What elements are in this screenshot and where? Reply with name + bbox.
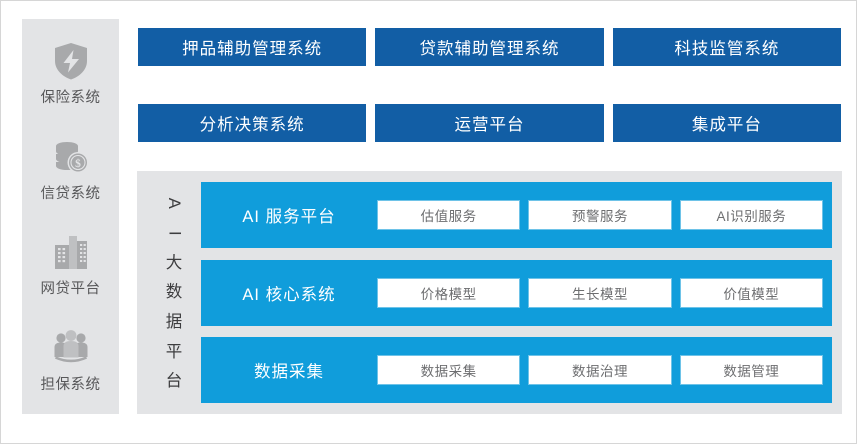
ai-layer-chips: 价格模型 生长模型 价值模型: [377, 278, 823, 308]
system-bar[interactable]: 押品辅助管理系统: [138, 28, 366, 66]
system-bar-row-2: 分析决策系统 运营平台 集成平台: [138, 104, 841, 142]
sidebar: 保险系统 $ 信贷系统: [22, 19, 119, 414]
platform-vertical-label: A I 大 数 据 平 台: [147, 182, 201, 403]
sidebar-item-insurance[interactable]: 保险系统: [22, 39, 119, 107]
ai-chip[interactable]: 价值模型: [680, 278, 823, 308]
coin-stack-dollar-icon: $: [49, 135, 93, 179]
sidebar-item-online-lending[interactable]: 网贷平台: [22, 230, 119, 298]
ai-chip[interactable]: 数据治理: [528, 355, 671, 385]
vertical-label-char: 据: [166, 314, 183, 331]
ai-layer-chips: 估值服务 预警服务 AI识别服务: [377, 200, 823, 230]
system-bars: 押品辅助管理系统 贷款辅助管理系统 科技监管系统 分析决策系统 运营平台 集成平…: [138, 28, 841, 142]
office-buildings-icon: [49, 230, 93, 274]
ai-chip[interactable]: 预警服务: [528, 200, 671, 230]
system-bar[interactable]: 分析决策系统: [138, 104, 366, 142]
people-group-icon: [49, 326, 93, 370]
architecture-diagram: 保险系统 $ 信贷系统: [0, 0, 857, 444]
sidebar-item-label: 信贷系统: [41, 182, 101, 203]
system-bar[interactable]: 集成平台: [613, 104, 841, 142]
ai-layer-title: 数据采集: [201, 358, 377, 382]
system-bar[interactable]: 运营平台: [375, 104, 603, 142]
vertical-label-char: 台: [166, 373, 183, 390]
ai-chip[interactable]: AI识别服务: [680, 200, 823, 230]
ai-layer-row: AI 服务平台 估值服务 预警服务 AI识别服务: [201, 182, 832, 248]
ai-chip[interactable]: 估值服务: [377, 200, 520, 230]
svg-text:$: $: [75, 157, 81, 170]
shield-bolt-icon: [49, 39, 93, 83]
ai-layer-row: AI 核心系统 价格模型 生长模型 价值模型: [201, 260, 832, 326]
system-bar[interactable]: 科技监管系统: [613, 28, 841, 66]
ai-layer-row: 数据采集 数据采集 数据治理 数据管理: [201, 337, 832, 403]
ai-layer-title: AI 服务平台: [201, 203, 377, 227]
sidebar-item-label: 保险系统: [41, 86, 101, 107]
sidebar-item-label: 担保系统: [41, 373, 101, 394]
sidebar-item-credit[interactable]: $ 信贷系统: [22, 135, 119, 203]
ai-chip[interactable]: 价格模型: [377, 278, 520, 308]
ai-chip[interactable]: 数据采集: [377, 355, 520, 385]
ai-chip[interactable]: 生长模型: [528, 278, 671, 308]
vertical-label-char: 平: [166, 344, 183, 361]
system-bar[interactable]: 贷款辅助管理系统: [375, 28, 603, 66]
vertical-label-char: 大: [166, 255, 183, 272]
ai-big-data-platform-panel: A I 大 数 据 平 台 AI 服务平台 估值服务 预警服务 AI识别服务 A…: [137, 171, 842, 414]
sidebar-item-label: 网贷平台: [41, 277, 101, 298]
vertical-label-char: I: [166, 231, 183, 236]
ai-layer-title: AI 核心系统: [201, 281, 377, 305]
ai-chip[interactable]: 数据管理: [680, 355, 823, 385]
vertical-label-char: 数: [166, 284, 183, 301]
sidebar-item-guarantee[interactable]: 担保系统: [22, 326, 119, 394]
ai-layer-rows: AI 服务平台 估值服务 预警服务 AI识别服务 AI 核心系统 价格模型 生长…: [201, 182, 832, 403]
system-bar-row-1: 押品辅助管理系统 贷款辅助管理系统 科技监管系统: [138, 28, 841, 66]
ai-layer-chips: 数据采集 数据治理 数据管理: [377, 355, 823, 385]
vertical-label-char: A: [166, 198, 183, 209]
